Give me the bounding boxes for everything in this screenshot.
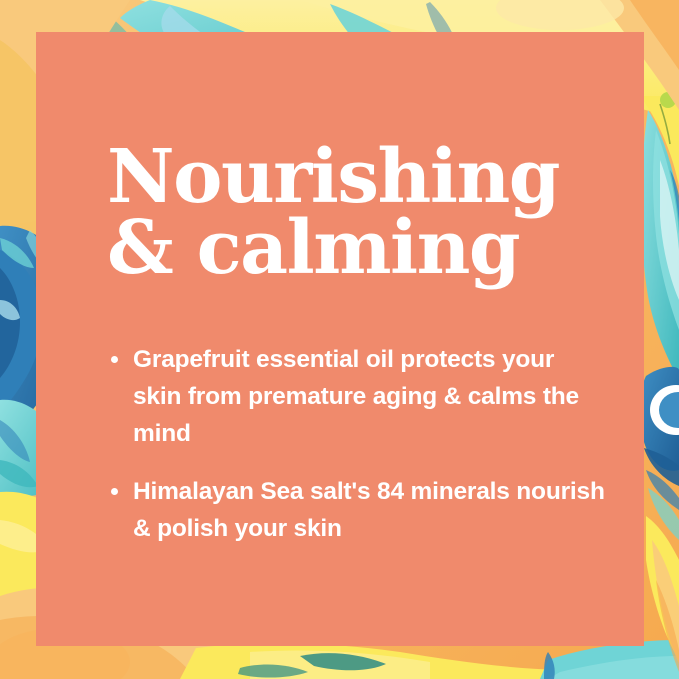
list-item-text: Grapefruit essential oil protects your s… (133, 346, 579, 447)
list-item: Grapefruit essential oil protects your s… (107, 342, 607, 452)
bullet-dot-icon (111, 356, 118, 363)
bullet-dot-icon (111, 488, 118, 495)
content-card: Nourishing & calming Grapefruit essentia… (36, 32, 644, 646)
list-item-text: Himalayan Sea salt's 84 minerals nourish… (133, 478, 605, 542)
poster: Nourishing & calming Grapefruit essentia… (0, 0, 679, 679)
list-item: Himalayan Sea salt's 84 minerals nourish… (107, 474, 607, 548)
benefits-list: Grapefruit essential oil protects your s… (107, 342, 607, 548)
page-title: Nourishing & calming (107, 142, 607, 284)
